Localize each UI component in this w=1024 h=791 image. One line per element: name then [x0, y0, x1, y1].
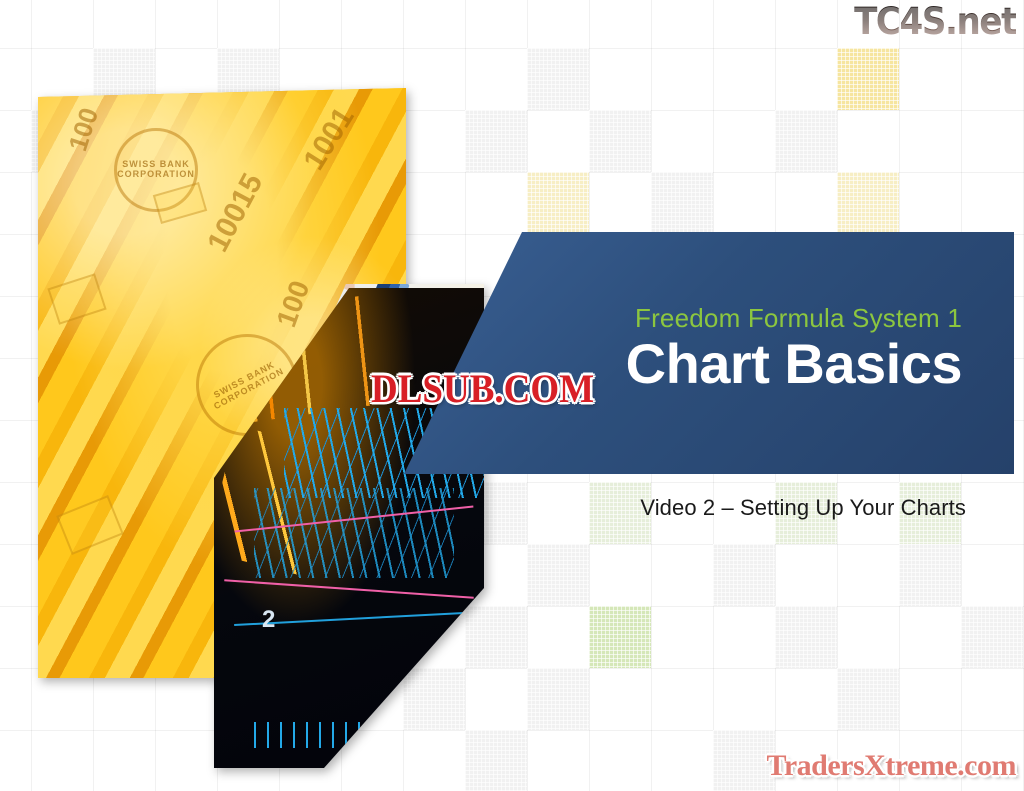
bg-tile [837, 48, 899, 110]
video-subtitle: Video 2 – Setting Up Your Charts [640, 495, 966, 521]
gold-ingot-mark [56, 495, 124, 555]
bg-tile [651, 172, 713, 234]
gold-serial-number: 100 [62, 104, 105, 155]
bg-tile [527, 544, 589, 606]
gold-serial-number: 10015 [201, 168, 270, 258]
bg-tile [961, 606, 1023, 668]
bg-tile [527, 668, 589, 730]
chart-line-pink [224, 579, 474, 598]
bg-tile [837, 172, 899, 234]
bg-tile [775, 110, 837, 172]
bg-tile [589, 110, 651, 172]
gold-serial-number: 100 [270, 277, 316, 332]
bg-tile [775, 606, 837, 668]
presentation-slide: SWISS BANK CORPORATION SWISS BANK CORPOR… [0, 0, 1024, 791]
dlsub-watermark: DLSUB.COM [371, 366, 594, 412]
bg-tile [527, 172, 589, 234]
bg-tile [899, 544, 961, 606]
bg-tile [527, 48, 589, 110]
bg-tile [589, 606, 651, 668]
bg-tile [465, 606, 527, 668]
bg-tile [713, 544, 775, 606]
bg-tile [837, 668, 899, 730]
bg-tile [465, 110, 527, 172]
bg-tile [465, 730, 527, 791]
gold-serial-number: 1001 [297, 102, 361, 177]
tc4s-logo[interactable]: TC4S.net [854, 0, 1016, 43]
chart-axis-label: 2 [262, 606, 275, 634]
chart-zigzag-blue [254, 488, 454, 578]
course-eyebrow: Freedom Formula System 1 [442, 304, 962, 333]
gold-ingot-mark [47, 273, 106, 325]
tradersxtreme-logo[interactable]: TradersXtreme.com [767, 749, 1016, 783]
